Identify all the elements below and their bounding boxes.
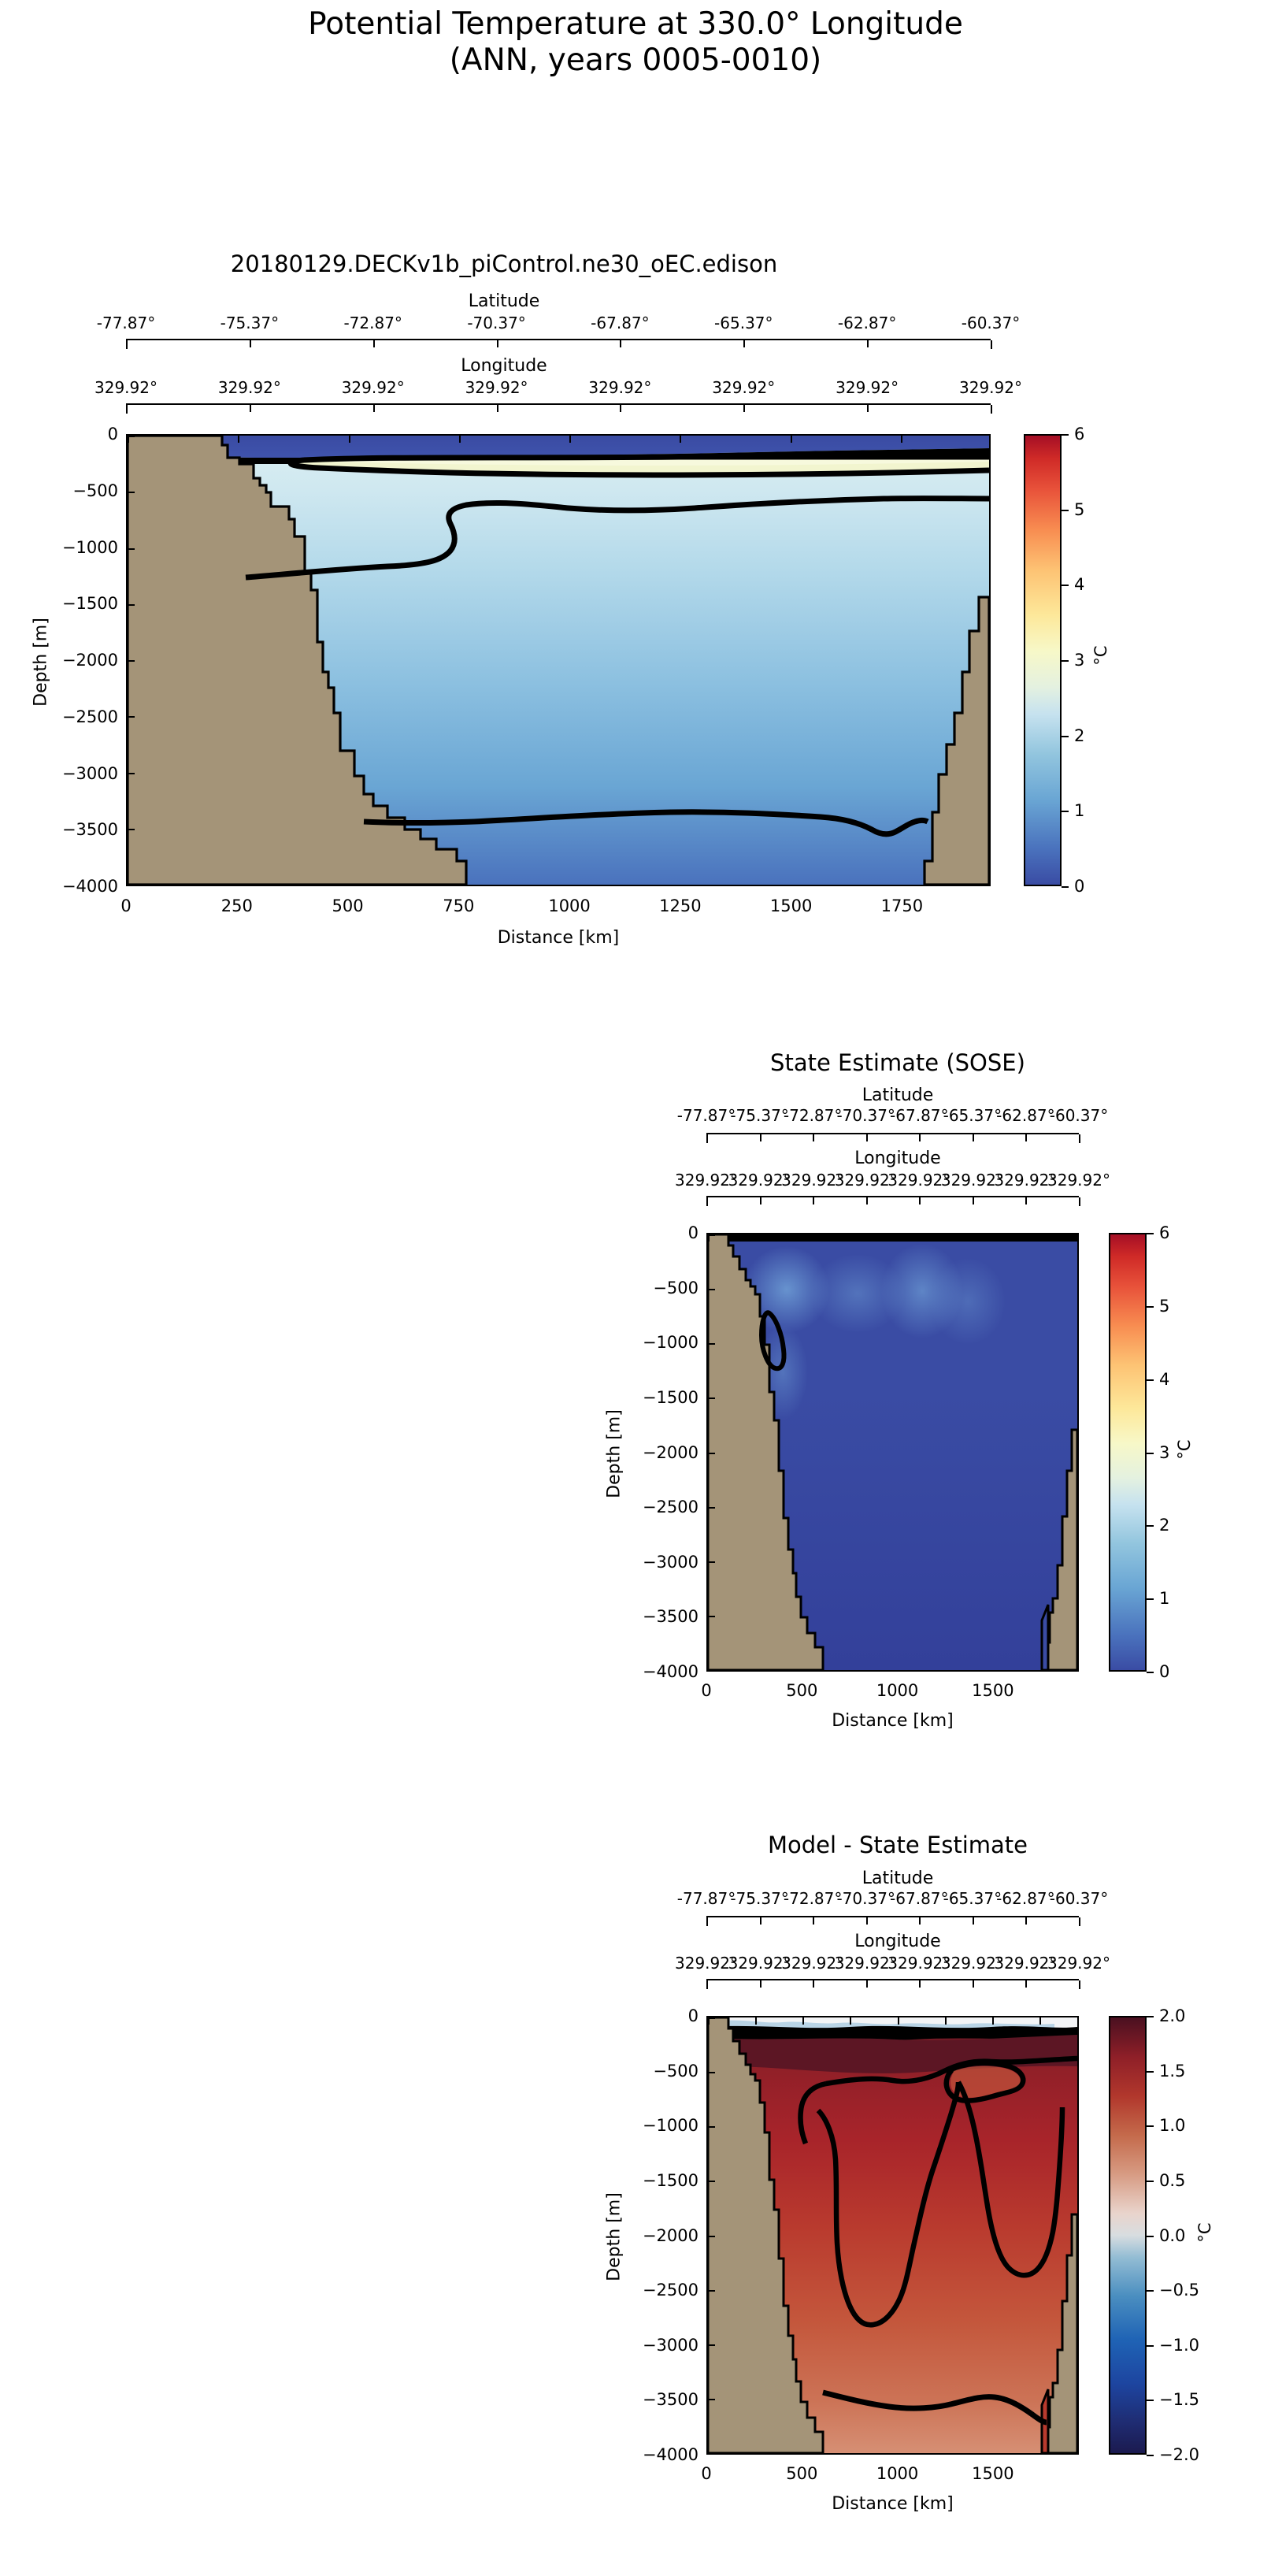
panel-model-lon-label-4: 329.92° bbox=[588, 378, 651, 397]
panel-model-lon-label-3: 329.92° bbox=[465, 378, 528, 397]
panel-sose-cb-tickmark-6 bbox=[1147, 1233, 1154, 1234]
panel-sose-ylabel-7: −3500 bbox=[643, 1607, 698, 1626]
panel-sose-xtick-1 bbox=[755, 1234, 757, 1242]
panel-sose-cb-6: 6 bbox=[1159, 1223, 1169, 1242]
panel-diff-xlabel-2: 1000 bbox=[876, 2464, 918, 2483]
panel-sose-lat-axisline-tick-0 bbox=[706, 1134, 708, 1143]
panel-diff-xtick-3 bbox=[850, 2017, 851, 2025]
panel-model-title: 20180129.DECKv1b_piControl.ne30_oEC.edis… bbox=[47, 251, 961, 277]
panel-model-lat-label-3: -70.37° bbox=[467, 314, 525, 332]
panel-sose-cb-tickmark-4 bbox=[1147, 1379, 1154, 1381]
panel-model-xlabel-7: 1750 bbox=[881, 896, 923, 915]
panel-diff-cb-tickmark-4 bbox=[1147, 2236, 1154, 2237]
panel-diff-cb-5: 0.5 bbox=[1159, 2171, 1185, 2190]
panel-diff-lat-label-7: -60.37° bbox=[1050, 1889, 1108, 1908]
panel-sose-ytick-8 bbox=[708, 1669, 715, 1671]
panel-sose-depth-axis-title: Depth [m] bbox=[605, 1391, 624, 1517]
panel-diff-xlabel-3: 1500 bbox=[972, 2464, 1013, 2483]
panel-model-xlabel-3: 750 bbox=[443, 896, 474, 915]
panel-sose-lon-axisline-tick-6 bbox=[1025, 1197, 1027, 1204]
panel-model-ylabel-7: −3500 bbox=[62, 820, 118, 839]
panel-sose-ytick-3 bbox=[708, 1397, 715, 1399]
panel-sose-ytick-7 bbox=[708, 1616, 715, 1617]
panel-model-cb-0: 0 bbox=[1074, 877, 1084, 896]
panel-diff-cb-4: 0.0 bbox=[1159, 2226, 1185, 2245]
panel-diff-ylabel-7: −3500 bbox=[643, 2390, 698, 2409]
panel-sose-ylabel-1: −500 bbox=[653, 1279, 698, 1297]
panel-model-ytick-5 bbox=[128, 716, 135, 718]
panel-diff-latitude-axis-label: Latitude bbox=[677, 1869, 1118, 1888]
panel-sose-lat-label-3: -70.37° bbox=[836, 1106, 895, 1125]
panel-sose-depth-ticklabels: 0−500−1000−1500−2000−2500−3000−3500−4000 bbox=[622, 1233, 698, 1672]
panel-diff-ylabel-0: 0 bbox=[688, 2006, 698, 2025]
panel-sose-cb-3: 3 bbox=[1159, 1443, 1169, 1462]
panel-diff-cb-tickmark-5 bbox=[1147, 2181, 1154, 2182]
panel-sose-distance-ticklabels: 050010001500 bbox=[706, 1681, 1079, 1705]
panel-diff-xtick-0 bbox=[708, 2017, 710, 2025]
panel-model-latitude-ticklabels: -77.87°-75.37°-72.87°-70.37°-67.87°-65.3… bbox=[0, 314, 1271, 332]
panel-sose-lat-axisline-tick-6 bbox=[1025, 1134, 1027, 1141]
panel-model-cb-1: 1 bbox=[1074, 801, 1084, 820]
panel-model-ylabel-1: −500 bbox=[72, 481, 118, 500]
panel-diff-lat-label-0: -77.87° bbox=[677, 1889, 736, 1908]
panel-diff-xtick-4 bbox=[898, 2017, 899, 2025]
panel-model-cb-tickmark-4 bbox=[1062, 585, 1069, 586]
panel-model-lat-label-7: -60.37° bbox=[962, 314, 1020, 332]
panel-model-colorbar-unit: °C bbox=[1091, 632, 1110, 679]
panel-sose-cb-tickmark-1 bbox=[1147, 1598, 1154, 1600]
panel-sose-lat-label-5: -65.37° bbox=[943, 1106, 1002, 1125]
panel-diff-lon-axisline-tick-5 bbox=[973, 1980, 974, 1988]
panel-sose-ylabel-0: 0 bbox=[688, 1223, 698, 1242]
panel-sose-colorbar bbox=[1109, 1233, 1147, 1672]
panel-diff-lat-axisline-tick-1 bbox=[760, 1917, 761, 1925]
panel-model-cb-2: 2 bbox=[1074, 726, 1084, 745]
panel-sose-ylabel-3: −1500 bbox=[643, 1388, 698, 1407]
panel-model-ylabel-6: −3000 bbox=[62, 764, 118, 783]
panel-model-depth-axis-title: Depth [m] bbox=[31, 599, 51, 726]
panel-model-lat-axisline bbox=[126, 339, 991, 350]
panel-diff-ylabel-4: −2000 bbox=[643, 2226, 698, 2245]
panel-sose-lat-label-7: -60.37° bbox=[1050, 1106, 1108, 1125]
panel-model-lat-axisline-tick-0 bbox=[126, 340, 128, 349]
panel-model-distance-axis-title: Distance [km] bbox=[126, 928, 991, 948]
panel-model-depth-ticklabels: 0−500−1000−1500−2000−2500−3000−3500−4000 bbox=[47, 434, 118, 886]
panel-model-ytick-6 bbox=[128, 773, 135, 774]
panel-diff-ytick-7 bbox=[708, 2399, 715, 2400]
panel-diff-xtick-1 bbox=[755, 2017, 757, 2025]
panel-diff-lat-label-5: -65.37° bbox=[943, 1889, 1002, 1908]
panel-diff-xtick-7 bbox=[1039, 2017, 1041, 2025]
panel-sose-ylabel-5: −2500 bbox=[643, 1498, 698, 1516]
panel-diff-lon-axisline-tick-4 bbox=[919, 1980, 921, 1988]
panel-sose-lat-label-6: -62.87° bbox=[996, 1106, 1054, 1125]
panel-diff-cb-3: −0.5 bbox=[1159, 2281, 1199, 2299]
panel-diff-cb-2: −1.0 bbox=[1159, 2336, 1199, 2355]
panel-sose-ytick-6 bbox=[708, 1561, 715, 1563]
panel-model-xlabel-2: 500 bbox=[332, 896, 363, 915]
panel-sose-lon-axisline-tick-7 bbox=[1079, 1197, 1080, 1206]
panel-diff-ylabel-2: −1000 bbox=[643, 2116, 698, 2135]
panel-sose-cb-2: 2 bbox=[1159, 1516, 1169, 1535]
panel-model-ytick-4 bbox=[128, 660, 135, 662]
panel-diff-xlabel-0: 0 bbox=[701, 2464, 711, 2483]
panel-diff-lon-axisline-tick-6 bbox=[1025, 1980, 1027, 1988]
panel-diff-depth-axis-title: Depth [m] bbox=[605, 2174, 624, 2300]
panel-model-longitude-ticklabels: 329.92°329.92°329.92°329.92°329.92°329.9… bbox=[0, 378, 1271, 397]
panel-model-ytick-7 bbox=[128, 829, 135, 830]
panel-sose-distance-axis-title: Distance [km] bbox=[706, 1711, 1079, 1731]
panel-sose-longitude-axis-label: Longitude bbox=[677, 1149, 1118, 1168]
panel-sose-cb-tickmark-3 bbox=[1147, 1453, 1154, 1454]
panel-model-cb-tickmark-6 bbox=[1062, 434, 1069, 436]
panel-diff-lat-label-2: -72.87° bbox=[784, 1889, 842, 1908]
panel-diff-lat-axisline-tick-6 bbox=[1025, 1917, 1027, 1925]
panel-sose-cb-0: 0 bbox=[1159, 1662, 1169, 1681]
panel-model-lat-label-6: -62.87° bbox=[838, 314, 896, 332]
panel-sose-lat-axisline-tick-4 bbox=[919, 1134, 921, 1141]
panel-difference-colorbar bbox=[1109, 2016, 1147, 2455]
panel-diff-ytick-1 bbox=[708, 2072, 715, 2073]
panel-sose-colorbar-unit: °C bbox=[1175, 1426, 1194, 1473]
panel-sose-lat-label-1: -75.37° bbox=[730, 1106, 788, 1125]
panel-model-lon-label-5: 329.92° bbox=[712, 378, 775, 397]
panel-model-lat-label-5: -65.37° bbox=[714, 314, 773, 332]
panel-diff-lon-axisline-tick-7 bbox=[1079, 1980, 1080, 1989]
panel-sose-xtick-3 bbox=[850, 1234, 851, 1242]
panel-difference-section-render bbox=[708, 2017, 1077, 2453]
panel-model-lat-axisline-tick-6 bbox=[867, 340, 869, 347]
panel-diff-longitude-ticklabels: 329.92°329.92°329.92°329.92°329.92°329.9… bbox=[0, 1954, 1271, 1973]
panel-model-lon-axisline-tick-3 bbox=[497, 405, 498, 412]
panel-diff-lat-axisline bbox=[706, 1916, 1079, 1927]
panel-model-cb-tickmark-0 bbox=[1062, 886, 1069, 888]
panel-sose-lat-axisline-tick-3 bbox=[866, 1134, 868, 1141]
figure-canvas: Potential Temperature at 330.0° Longitud… bbox=[0, 0, 1271, 2576]
panel-model-ylabel-3: −1500 bbox=[62, 594, 118, 613]
panel-model-ylabel-2: −1000 bbox=[62, 538, 118, 557]
panel-sose-lat-axisline-tick-2 bbox=[813, 1134, 814, 1141]
panel-sose-cb-4: 4 bbox=[1159, 1370, 1169, 1389]
panel-model-lon-axisline-tick-0 bbox=[126, 405, 128, 414]
panel-sose-lat-label-4: -67.87° bbox=[890, 1106, 948, 1125]
panel-diff-lat-label-1: -75.37° bbox=[730, 1889, 788, 1908]
panel-model-ytick-3 bbox=[128, 604, 135, 606]
panel-sose-cb-5: 5 bbox=[1159, 1297, 1169, 1316]
panel-diff-cb-tickmark-6 bbox=[1147, 2125, 1154, 2127]
panel-sose-cb-1: 1 bbox=[1159, 1589, 1169, 1608]
panel-sose-lon-label-7: 329.92° bbox=[1047, 1171, 1110, 1190]
panel-model-cb-4: 4 bbox=[1074, 575, 1084, 594]
panel-sose-xtick-6 bbox=[992, 1234, 994, 1242]
panel-model-lon-label-0: 329.92° bbox=[94, 378, 157, 397]
panel-model-ylabel-5: −2500 bbox=[62, 707, 118, 726]
panel-sose-xtick-2 bbox=[802, 1234, 804, 1242]
panel-diff-xlabel-1: 500 bbox=[786, 2464, 817, 2483]
panel-model-lat-label-1: -75.37° bbox=[220, 314, 279, 332]
panel-diff-latitude-ticklabels: -77.87°-75.37°-72.87°-70.37°-67.87°-65.3… bbox=[0, 1889, 1271, 1908]
panel-model-xtick-5 bbox=[680, 436, 681, 443]
panel-model-ylabel-8: −4000 bbox=[62, 877, 118, 896]
panel-diff-lon-axisline-tick-1 bbox=[760, 1980, 761, 1988]
panel-diff-distance-ticklabels: 050010001500 bbox=[706, 2464, 1079, 2488]
panel-diff-lat-axisline-tick-4 bbox=[919, 1917, 921, 1925]
panel-sose-xtick-5 bbox=[945, 1234, 947, 1242]
panel-model-xtick-1 bbox=[238, 436, 239, 443]
panel-model-latitude-axis-label: Latitude bbox=[47, 291, 961, 311]
panel-model-lat-axisline-tick-2 bbox=[373, 340, 375, 347]
panel-diff-cb-tickmark-2 bbox=[1147, 2345, 1154, 2347]
panel-diff-ylabel-8: −4000 bbox=[643, 2445, 698, 2464]
panel-diff-xtick-6 bbox=[992, 2017, 994, 2025]
panel-diff-depth-ticklabels: 0−500−1000−1500−2000−2500−3000−3500−4000 bbox=[622, 2016, 698, 2455]
panel-model-lat-label-2: -72.87° bbox=[343, 314, 402, 332]
panel-diff-lon-axisline bbox=[706, 1979, 1079, 1990]
panel-sose-ytick-2 bbox=[708, 1343, 715, 1345]
panel-sose-cb-tickmark-5 bbox=[1147, 1306, 1154, 1308]
panel-model-lat-label-0: -77.87° bbox=[97, 314, 155, 332]
panel-model-lon-axisline-tick-6 bbox=[867, 405, 869, 412]
panel-model-lat-axisline-tick-7 bbox=[991, 340, 992, 349]
panel-diff-lat-axisline-tick-2 bbox=[813, 1917, 814, 1925]
panel-sose-cb-tickmark-2 bbox=[1147, 1525, 1154, 1527]
panel-model-ytick-1 bbox=[128, 492, 135, 493]
panel-diff-cb-tickmark-0 bbox=[1147, 2455, 1154, 2456]
panel-sose-ylabel-4: −2000 bbox=[643, 1443, 698, 1462]
panel-model-lat-axisline-tick-5 bbox=[743, 340, 745, 347]
panel-sose-xlabel-0: 0 bbox=[701, 1681, 711, 1700]
panel-model-cb-tickmark-2 bbox=[1062, 736, 1069, 737]
panel-model-xtick-3 bbox=[459, 436, 461, 443]
panel-diff-xtick-2 bbox=[802, 2017, 804, 2025]
panel-diff-ylabel-3: −1500 bbox=[643, 2171, 698, 2190]
panel-model-cb-tickmark-5 bbox=[1062, 510, 1069, 511]
panel-sose-ytick-1 bbox=[708, 1289, 715, 1290]
panel-model-ylabel-4: −2000 bbox=[62, 651, 118, 670]
panel-sose-lon-axisline-tick-5 bbox=[973, 1197, 974, 1204]
panel-diff-ytick-5 bbox=[708, 2290, 715, 2292]
panel-diff-ytick-2 bbox=[708, 2126, 715, 2128]
panel-model-xtick-6 bbox=[791, 436, 792, 443]
panel-diff-longitude-axis-label: Longitude bbox=[677, 1932, 1118, 1951]
panel-diff-ytick-4 bbox=[708, 2236, 715, 2237]
panel-difference-title: Model - State Estimate bbox=[677, 1832, 1118, 1858]
panel-diff-ytick-8 bbox=[708, 2452, 715, 2454]
panel-sose-xtick-0 bbox=[708, 1234, 710, 1242]
panel-model-xtick-2 bbox=[349, 436, 350, 443]
panel-diff-ylabel-1: −500 bbox=[653, 2062, 698, 2080]
panel-model-lon-label-6: 329.92° bbox=[836, 378, 899, 397]
panel-diff-cb-tickmark-7 bbox=[1147, 2071, 1154, 2073]
panel-diff-cb-6: 1.0 bbox=[1159, 2116, 1185, 2135]
panel-sose-lon-axisline bbox=[706, 1196, 1079, 1207]
panel-diff-ylabel-5: −2500 bbox=[643, 2281, 698, 2299]
panel-sose-lon-axisline-tick-0 bbox=[706, 1197, 708, 1206]
panel-model-xlabel-0: 0 bbox=[120, 896, 131, 915]
panel-model-lat-axisline-tick-4 bbox=[620, 340, 621, 347]
panel-sose-lat-label-0: -77.87° bbox=[677, 1106, 736, 1125]
panel-diff-xtick-5 bbox=[945, 2017, 947, 2025]
panel-sose-longitude-ticklabels: 329.92°329.92°329.92°329.92°329.92°329.9… bbox=[0, 1171, 1271, 1190]
panel-sose-lat-axisline-tick-7 bbox=[1079, 1134, 1080, 1143]
panel-diff-lat-label-4: -67.87° bbox=[890, 1889, 948, 1908]
panel-diff-lat-axisline-tick-5 bbox=[973, 1917, 974, 1925]
panel-state-estimate-title: State Estimate (SOSE) bbox=[677, 1049, 1118, 1076]
panel-model-lon-label-7: 329.92° bbox=[959, 378, 1022, 397]
panel-sose-lon-axisline-tick-2 bbox=[813, 1197, 814, 1204]
panel-sose-plot-area bbox=[706, 1233, 1079, 1672]
figure-suptitle-line1: Potential Temperature at 330.0° Longitud… bbox=[0, 6, 1271, 43]
panel-model-xlabel-4: 1000 bbox=[548, 896, 590, 915]
panel-sose-lat-label-2: -72.87° bbox=[784, 1106, 842, 1125]
panel-model-lat-axisline-tick-1 bbox=[250, 340, 251, 347]
panel-model-cb-tickmark-3 bbox=[1062, 660, 1069, 662]
panel-model-xtick-4 bbox=[569, 436, 571, 443]
panel-model-lat-label-4: -67.87° bbox=[591, 314, 649, 332]
panel-sose-lat-axisline-tick-5 bbox=[973, 1134, 974, 1141]
panel-sose-lat-axisline bbox=[706, 1133, 1079, 1144]
panel-difference-colorbar-unit: °C bbox=[1195, 2209, 1214, 2256]
panel-difference-plot-area bbox=[706, 2016, 1079, 2455]
panel-model-distance-ticklabels: 02505007501000125015001750 bbox=[126, 896, 991, 920]
panel-diff-lon-axisline-tick-2 bbox=[813, 1980, 814, 1988]
panel-sose-lat-axisline-tick-1 bbox=[760, 1134, 761, 1141]
panel-sose-xtick-4 bbox=[898, 1234, 899, 1242]
panel-diff-lon-label-7: 329.92° bbox=[1047, 1954, 1110, 1973]
panel-model-xlabel-6: 1500 bbox=[770, 896, 812, 915]
panel-sose-lon-axisline-tick-4 bbox=[919, 1197, 921, 1204]
panel-model-xtick-7 bbox=[901, 436, 902, 443]
panel-model-longitude-axis-label: Longitude bbox=[47, 356, 961, 376]
panel-diff-cb-tickmark-3 bbox=[1147, 2290, 1154, 2292]
panel-diff-lon-axisline-tick-3 bbox=[866, 1980, 868, 1988]
panel-diff-ylabel-6: −3000 bbox=[643, 2336, 698, 2355]
panel-sose-ytick-4 bbox=[708, 1453, 715, 1454]
panel-diff-lat-axisline-tick-7 bbox=[1079, 1917, 1080, 1926]
panel-model-ylabel-0: 0 bbox=[108, 425, 118, 444]
panel-sose-xlabel-2: 1000 bbox=[876, 1681, 918, 1700]
panel-diff-lat-axisline-tick-0 bbox=[706, 1917, 708, 1926]
panel-sose-latitude-ticklabels: -77.87°-75.37°-72.87°-70.37°-67.87°-65.3… bbox=[0, 1106, 1271, 1125]
panel-model-colorbar bbox=[1024, 434, 1062, 886]
panel-diff-lon-axisline-tick-0 bbox=[706, 1980, 708, 1989]
panel-model-lon-label-1: 329.92° bbox=[218, 378, 281, 397]
panel-diff-cb-0: −2.0 bbox=[1159, 2445, 1199, 2464]
panel-model-cb-3: 3 bbox=[1074, 651, 1084, 670]
panel-model-lon-label-2: 329.92° bbox=[342, 378, 405, 397]
panel-sose-cb-tickmark-0 bbox=[1147, 1672, 1154, 1673]
panel-diff-cb-8: 2.0 bbox=[1159, 2006, 1185, 2025]
panel-diff-lat-axisline-tick-3 bbox=[866, 1917, 868, 1925]
panel-model-ytick-2 bbox=[128, 548, 135, 550]
panel-sose-xtick-7 bbox=[1039, 1234, 1041, 1242]
panel-sose-ylabel-8: −4000 bbox=[643, 1662, 698, 1681]
panel-diff-lat-label-6: -62.87° bbox=[996, 1889, 1054, 1908]
panel-model-cb-tickmark-1 bbox=[1062, 811, 1069, 812]
panel-model-xlabel-5: 1250 bbox=[659, 896, 701, 915]
figure-suptitle-line2: (ANN, years 0005-0010) bbox=[0, 43, 1271, 79]
panel-sose-latitude-axis-label: Latitude bbox=[677, 1086, 1118, 1105]
panel-diff-cb-tickmark-8 bbox=[1147, 2016, 1154, 2017]
panel-model-cb-6: 6 bbox=[1074, 425, 1084, 444]
panel-diff-cb-tickmark-1 bbox=[1147, 2400, 1154, 2401]
panel-sose-ytick-5 bbox=[708, 1507, 715, 1509]
panel-model-xtick-0 bbox=[128, 436, 129, 443]
panel-model-lon-axisline-tick-5 bbox=[743, 405, 745, 412]
panel-model-cb-5: 5 bbox=[1074, 500, 1084, 519]
panel-sose-xlabel-1: 500 bbox=[786, 1681, 817, 1700]
panel-model-lon-axisline-tick-1 bbox=[250, 405, 251, 412]
panel-model-plot-area bbox=[126, 434, 991, 886]
panel-diff-distance-axis-title: Distance [km] bbox=[706, 2494, 1079, 2514]
panel-model-lon-axisline-tick-2 bbox=[373, 405, 375, 412]
panel-sose-ylabel-6: −3000 bbox=[643, 1553, 698, 1572]
panel-sose-lon-axisline-tick-3 bbox=[866, 1197, 868, 1204]
panel-sose-xlabel-3: 1500 bbox=[972, 1681, 1013, 1700]
panel-model-lat-axisline-tick-3 bbox=[497, 340, 498, 347]
panel-sose-lon-axisline-tick-1 bbox=[760, 1197, 761, 1204]
panel-sose-ylabel-2: −1000 bbox=[643, 1333, 698, 1352]
panel-model-lon-axisline-tick-7 bbox=[991, 405, 992, 414]
panel-model-lon-axisline bbox=[126, 403, 991, 414]
panel-model-ytick-8 bbox=[128, 884, 135, 885]
panel-sose-section-render bbox=[708, 1234, 1077, 1670]
panel-model-lon-axisline-tick-4 bbox=[620, 405, 621, 412]
panel-model-section-render bbox=[128, 436, 989, 885]
panel-model-xlabel-1: 250 bbox=[221, 896, 253, 915]
panel-diff-cb-7: 1.5 bbox=[1159, 2062, 1185, 2080]
panel-diff-lat-label-3: -70.37° bbox=[836, 1889, 895, 1908]
panel-diff-cb-1: −1.5 bbox=[1159, 2390, 1199, 2409]
panel-diff-ytick-6 bbox=[708, 2344, 715, 2346]
panel-diff-ytick-3 bbox=[708, 2181, 715, 2182]
